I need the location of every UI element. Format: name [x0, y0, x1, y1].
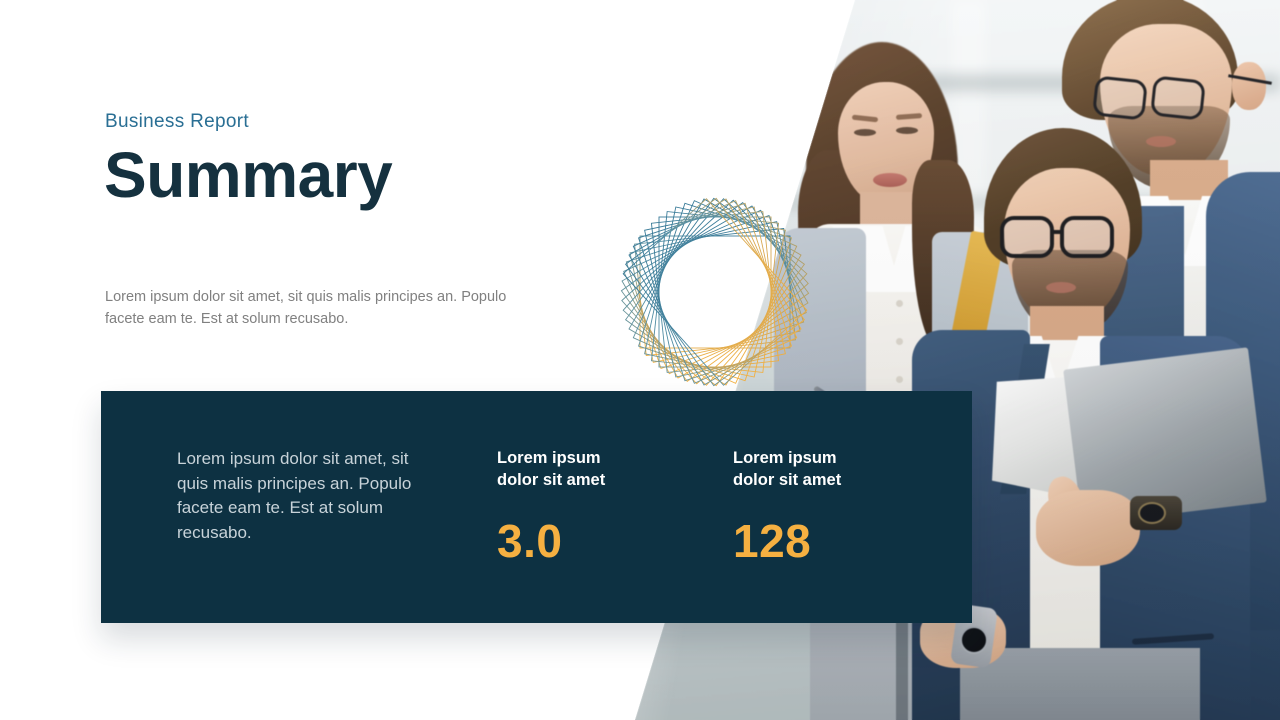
stat-label: Lorem ipsum dolor sit amet: [497, 447, 733, 492]
eyeglasses-bridge: [1053, 230, 1063, 234]
summary-panel: Lorem ipsum dolor sit amet, sit quis mal…: [101, 391, 972, 623]
stat-value: 3.0: [497, 518, 733, 564]
woman-shirt-button: [896, 376, 903, 383]
stat-label: Lorem ipsum dolor sit amet: [733, 447, 969, 492]
panel-description: Lorem ipsum dolor sit amet, sit quis mal…: [177, 447, 427, 546]
woman-shirt-button: [896, 300, 903, 307]
woman-eye: [854, 129, 876, 136]
page-title: Summary: [104, 141, 392, 210]
stat-card-1: Lorem ipsum dolor sit amet 3.0: [497, 447, 733, 564]
wristwatch-face: [960, 626, 988, 654]
seated-man-lips: [1046, 282, 1076, 293]
intro-paragraph: Lorem ipsum dolor sit amet, sit quis mal…: [105, 286, 535, 331]
summary-panel-content: Lorem ipsum dolor sit amet, sit quis mal…: [101, 391, 972, 623]
woman-lips: [873, 173, 907, 187]
eyeglasses-lens: [1150, 75, 1206, 120]
eyeglasses-lens: [1060, 216, 1114, 258]
woman-shirt-button: [896, 338, 903, 345]
eyeglasses-lens: [1092, 75, 1148, 120]
seated-man-hand: [1036, 490, 1140, 566]
wristwatch-face: [1138, 502, 1166, 524]
stat-value: 128: [733, 518, 969, 564]
standing-man-ear: [1232, 62, 1266, 110]
eyeglasses-lens: [1000, 216, 1054, 258]
standing-man-lips: [1146, 136, 1176, 147]
window-mullion: [708, 0, 734, 430]
presentation-slide: Business Report Summary Lorem ipsum dolo…: [0, 0, 1280, 720]
woman-eye: [896, 127, 918, 134]
eyebrow-label: Business Report: [105, 111, 249, 133]
stat-card-2: Lorem ipsum dolor sit amet 128: [733, 447, 969, 564]
